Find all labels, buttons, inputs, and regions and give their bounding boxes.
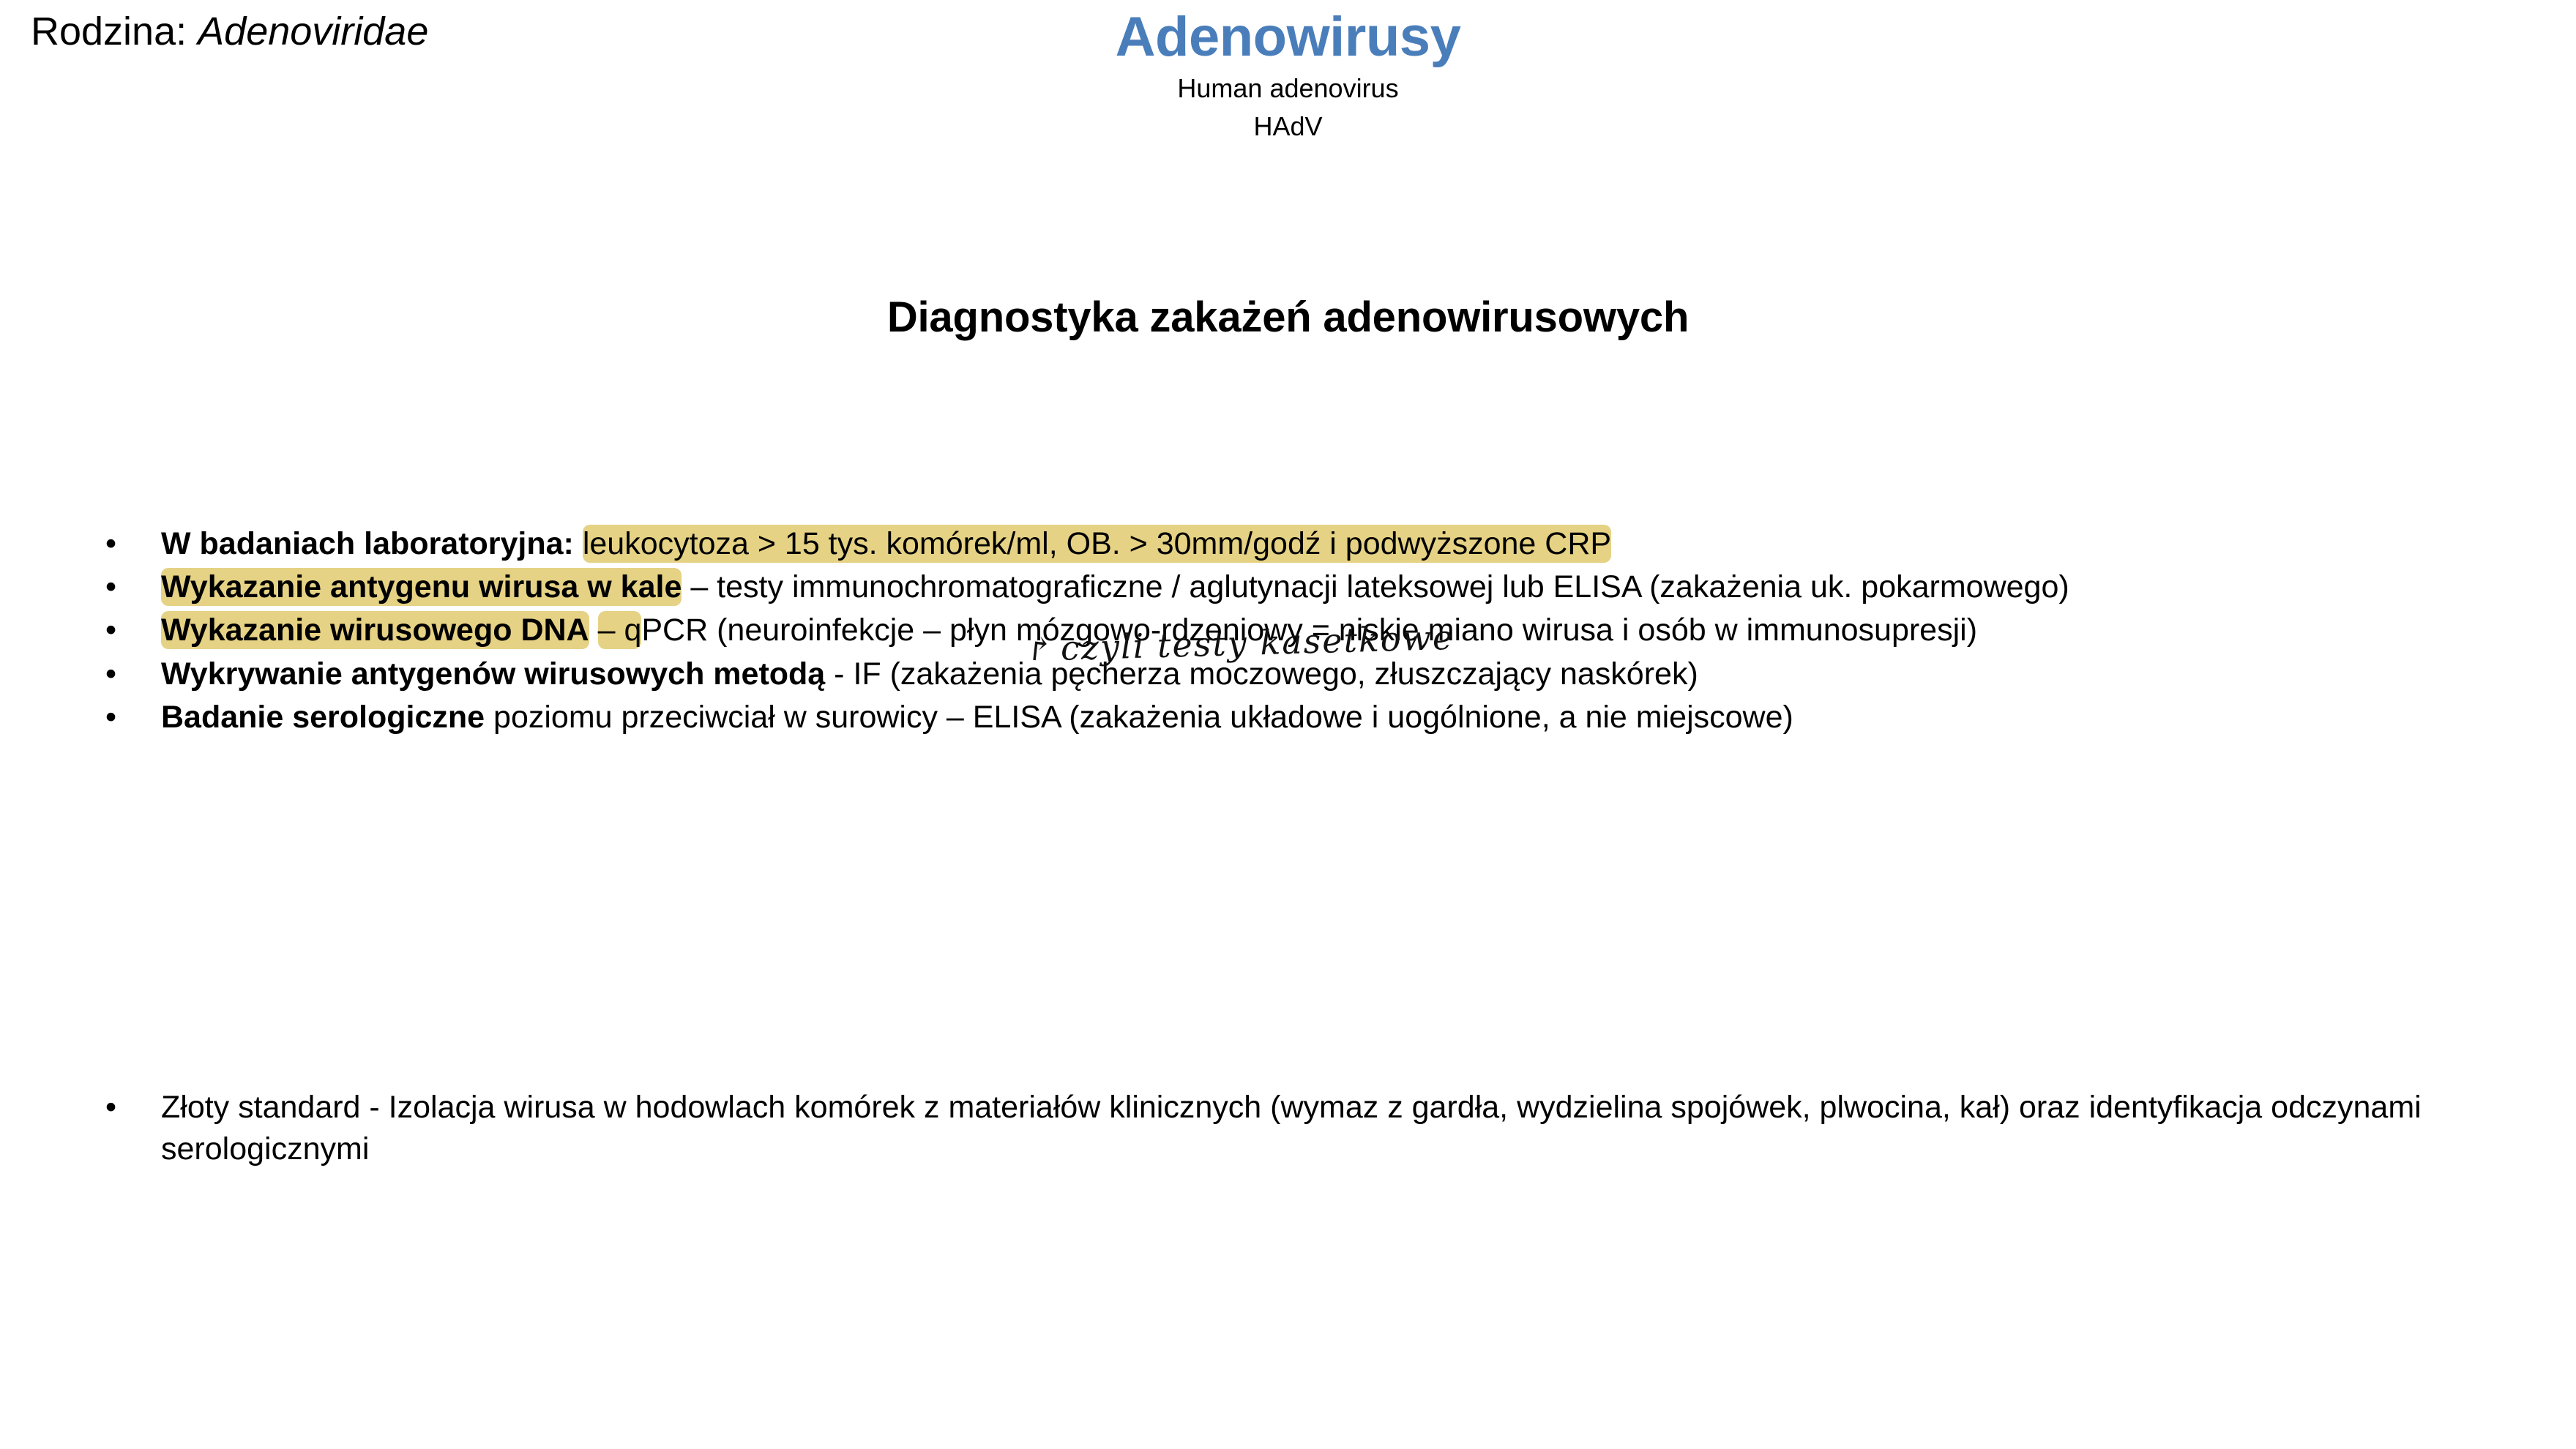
bullet-highlighted-text: – q xyxy=(598,611,642,649)
bullet-lead-text: Wykazanie wirusowego DNA xyxy=(161,611,589,649)
subtitle-line-2: HAdV xyxy=(0,109,2576,144)
annotation-arrow-icon: ↰ xyxy=(1023,630,1055,670)
page-title: Adenowirusy xyxy=(0,6,2576,68)
slide-canvas: Rodzina: Adenoviridae Adenowirusy Human … xyxy=(0,0,2576,1449)
bullet-item: •Wykazanie antygenu wirusa w kale – test… xyxy=(95,566,2496,608)
bullet-marker: • xyxy=(105,523,116,565)
title-block: Adenowirusy Human adenovirus HAdV xyxy=(0,6,2576,143)
bullet-lead-text: Badanie serologiczne xyxy=(161,700,485,735)
bullet-marker: • xyxy=(105,654,116,695)
bullet-lead-text: W badaniach laboratoryjna: xyxy=(161,526,574,561)
bullet-body-text: – testy immunochromatograficzne / agluty… xyxy=(682,569,2069,604)
subtitle-line-1: Human adenovirus xyxy=(0,71,2576,106)
final-bullet-text: Złoty standard - Izolacja wirusa w hodow… xyxy=(161,1090,2422,1167)
bullet-marker: • xyxy=(105,610,116,651)
final-bullet: • Złoty standard - Izolacja wirusa w hod… xyxy=(95,1087,2569,1170)
bullet-body-text: poziomu przeciwciał w surowicy – ELISA (… xyxy=(485,700,1793,735)
bullet-marker: • xyxy=(105,697,116,738)
bullet-marker: • xyxy=(105,566,116,608)
bullet-item: •W badaniach laboratoryjna: leukocytoza … xyxy=(95,523,2496,565)
bullet-marker: • xyxy=(105,1087,116,1128)
section-heading: Diagnostyka zakażeń adenowirusowych xyxy=(0,293,2576,342)
bullet-highlighted-text: leukocytoza > 15 tys. komórek/ml, OB. > … xyxy=(583,525,1611,563)
bullet-lead-text: Wykazanie antygenu wirusa w kale xyxy=(161,568,682,606)
bullet-item: •Badanie serologiczne poziomu przeciwcia… xyxy=(95,697,2496,738)
bullet-lead-text: Wykrywanie antygenów wirusowych metodą xyxy=(161,656,825,692)
